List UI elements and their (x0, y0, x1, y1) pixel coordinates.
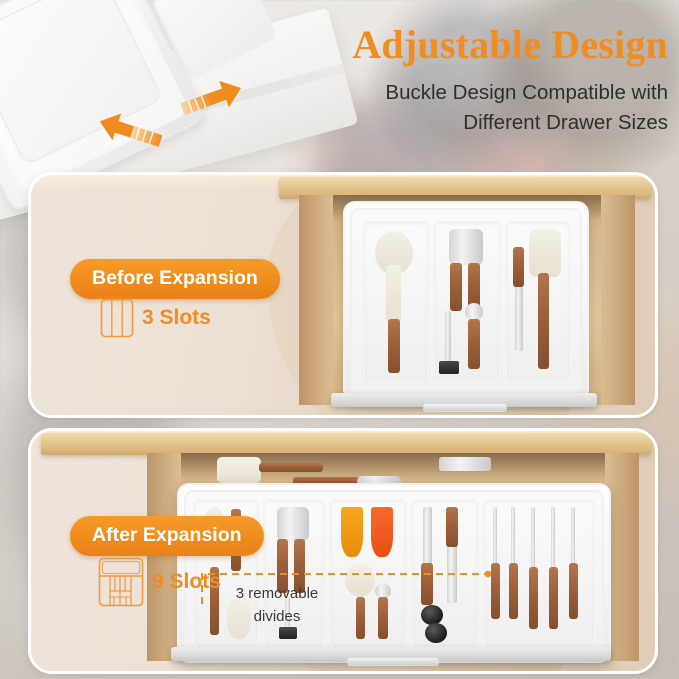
infographic-root: Adjustable Design Buckle Design Compatib… (0, 0, 679, 679)
turner-head-icon (217, 457, 261, 483)
utensil-neck (386, 265, 401, 323)
wood-handle (513, 247, 524, 287)
corn-holder-icon (341, 507, 363, 557)
page-subtitle: Buckle Design Compatible with Different … (290, 78, 668, 139)
tray-slot (505, 221, 571, 383)
wood-handle (538, 273, 549, 369)
page-title: Adjustable Design (290, 24, 668, 66)
black-cap-icon (425, 623, 447, 643)
slots-indicator-before: 3 Slots (100, 298, 211, 338)
slots-count-label: 3 Slots (142, 306, 211, 330)
callout-line-1: 3 removable (213, 583, 341, 606)
organizer-tray-3-slot (343, 201, 589, 401)
drawer-pull-handle (347, 657, 439, 666)
masher-shaft (445, 311, 451, 363)
wood-handle (259, 463, 323, 472)
subtitle-line-2: Different Drawer Sizes (290, 108, 668, 138)
wood-handle (468, 319, 480, 369)
expansion-arrows-group (100, 64, 250, 159)
masher-head-icon (279, 627, 297, 639)
grater-icon (439, 457, 491, 471)
tray-slot (483, 499, 595, 649)
tray-slot (363, 221, 429, 383)
spatula-head-icon (529, 229, 561, 277)
arrow-right-expand-icon (178, 75, 246, 123)
callout-line-2: divides (213, 606, 341, 629)
drawer-pull-handle (423, 403, 507, 412)
three-slot-grid-icon (100, 298, 134, 338)
badge-after-expansion[interactable]: After Expansion (70, 516, 264, 556)
badge-before-expansion[interactable]: Before Expansion (70, 259, 280, 299)
arrow-left-expand-icon (100, 108, 165, 154)
tray-slot (433, 221, 501, 383)
cavity-left-wall (299, 195, 333, 405)
cavity-right-wall (601, 195, 635, 405)
callout-removable-divides: 3 removable divides (213, 583, 341, 628)
can-opener-head-icon (449, 229, 483, 265)
masher-head-icon (439, 361, 459, 374)
can-opener-head-icon (277, 507, 309, 541)
nine-slot-grid-icon (98, 557, 144, 607)
black-cap-icon (421, 605, 443, 625)
wood-handle (450, 263, 462, 311)
subtitle-line-1: Buckle Design Compatible with (290, 78, 668, 108)
wood-handle (446, 507, 458, 547)
wood-countertop (41, 433, 651, 455)
corn-holder-icon (371, 507, 393, 557)
wood-handle (388, 319, 400, 373)
